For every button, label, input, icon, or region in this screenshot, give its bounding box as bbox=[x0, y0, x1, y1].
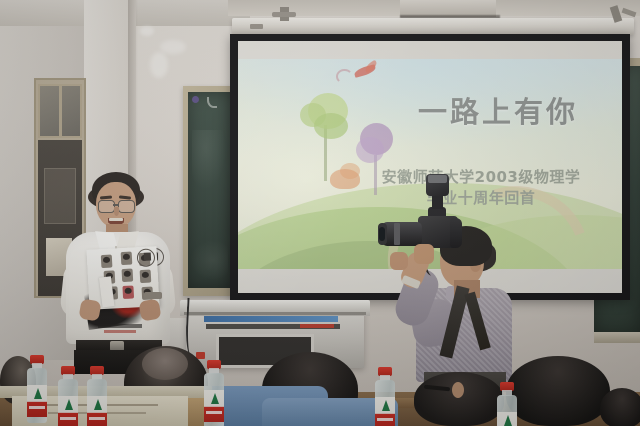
bottle-label-text bbox=[60, 417, 76, 420]
bottle-label-text bbox=[29, 406, 45, 409]
speaker-teeth bbox=[109, 218, 123, 221]
water-bottle bbox=[497, 382, 517, 426]
photo-cell bbox=[121, 252, 133, 266]
tree-logo-icon bbox=[94, 399, 102, 410]
tree-logo-icon bbox=[34, 388, 42, 399]
podium-lid-seam bbox=[184, 312, 366, 315]
screen-roller-casing[interactable] bbox=[232, 18, 634, 35]
photographer-hand-on-lens bbox=[390, 252, 408, 270]
photo-scene: 一路上有你 安徽师范大学2003级物理学 毕业十周年回首 bbox=[0, 0, 640, 426]
tree-logo-icon bbox=[211, 393, 219, 404]
wall-smudge bbox=[140, 26, 154, 36]
photo-cell bbox=[140, 270, 152, 284]
roller-bracket-left-arm bbox=[272, 12, 296, 17]
photo-cell bbox=[101, 255, 113, 269]
water-bottle bbox=[58, 366, 78, 426]
seal-stamp-inner-icon bbox=[144, 253, 151, 261]
chalk-tray bbox=[594, 332, 640, 343]
tree-logo-icon bbox=[65, 399, 73, 410]
tree-logo-icon bbox=[504, 415, 512, 426]
audience-head-crown bbox=[142, 348, 188, 380]
bottle-label-text bbox=[206, 411, 222, 414]
camera-grip bbox=[450, 218, 462, 248]
shirt-graphic-text bbox=[98, 324, 142, 328]
tree-logo-icon bbox=[382, 400, 390, 411]
camera-lens-glass bbox=[379, 227, 385, 241]
camera-lens bbox=[382, 222, 422, 246]
photo-cell bbox=[122, 268, 134, 282]
wall-smudge bbox=[150, 52, 168, 78]
magnet-icon bbox=[192, 96, 199, 103]
speaker-person bbox=[58, 172, 178, 372]
chalk-dust bbox=[192, 130, 226, 190]
slide-tree-crown-green bbox=[314, 113, 348, 139]
slide-subtitle: 安徽师范大学2003级物理学 毕业十周年回首 bbox=[346, 167, 616, 210]
bottle-label-text bbox=[377, 418, 393, 421]
water-bottle bbox=[375, 367, 395, 426]
podium-accent-strip bbox=[204, 316, 338, 322]
camera-lens-zoom-ring bbox=[394, 223, 400, 245]
slide-letterbox-top bbox=[238, 41, 622, 59]
slide-tree-crown-purple bbox=[356, 137, 384, 163]
door-transom-mullion bbox=[59, 84, 62, 138]
podium-slot-indicator bbox=[300, 324, 334, 328]
flash-panel bbox=[428, 175, 447, 183]
wristwatch-icon bbox=[144, 292, 162, 299]
photo-cell-color bbox=[122, 285, 134, 299]
photographer-hand-on-grip bbox=[414, 244, 434, 264]
slide-title: 一路上有你 bbox=[388, 89, 608, 131]
water-bottle bbox=[87, 366, 107, 426]
eyeglasses-icon bbox=[98, 200, 115, 213]
water-bottle bbox=[204, 360, 224, 426]
roller-label bbox=[250, 24, 263, 29]
bottle-label-text bbox=[89, 417, 105, 420]
audience-head bbox=[506, 356, 610, 426]
wall-smudge bbox=[160, 40, 186, 54]
eyeglasses-bridge bbox=[113, 204, 119, 206]
eyeglasses-icon bbox=[118, 200, 135, 213]
water-bottle bbox=[27, 355, 47, 425]
audience-head bbox=[414, 372, 504, 426]
audience-head bbox=[600, 388, 640, 426]
chalk-dust bbox=[190, 240, 228, 280]
audience-ear bbox=[452, 382, 464, 398]
shirt-graphic-text bbox=[104, 330, 136, 333]
speaker-nose bbox=[114, 207, 119, 216]
bird-trail-icon bbox=[336, 69, 353, 84]
